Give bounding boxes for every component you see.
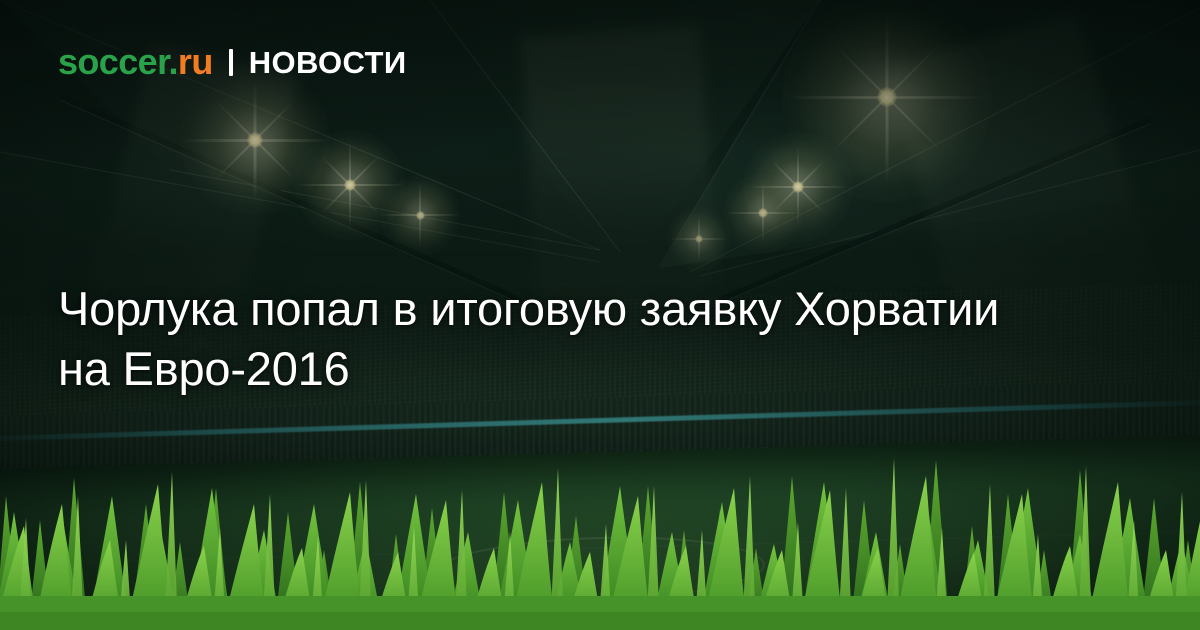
logo-text-ru: ru [178,41,213,82]
news-share-card: soccer.ru НОВОСТИ Чорлука попал в итогов… [0,0,1200,630]
soccer-ru-logo[interactable]: soccer.ru [58,44,213,80]
grass-foreground [0,400,1200,630]
section-label-news: НОВОСТИ [249,47,407,78]
brand-header: soccer.ru НОВОСТИ [58,44,407,80]
page-title: Чорлука попал в итоговую заявку Хорватии… [58,279,1018,397]
header-separator [229,49,233,76]
logo-text-dot: . [169,41,178,82]
logo-text-soccer: soccer [58,41,169,82]
